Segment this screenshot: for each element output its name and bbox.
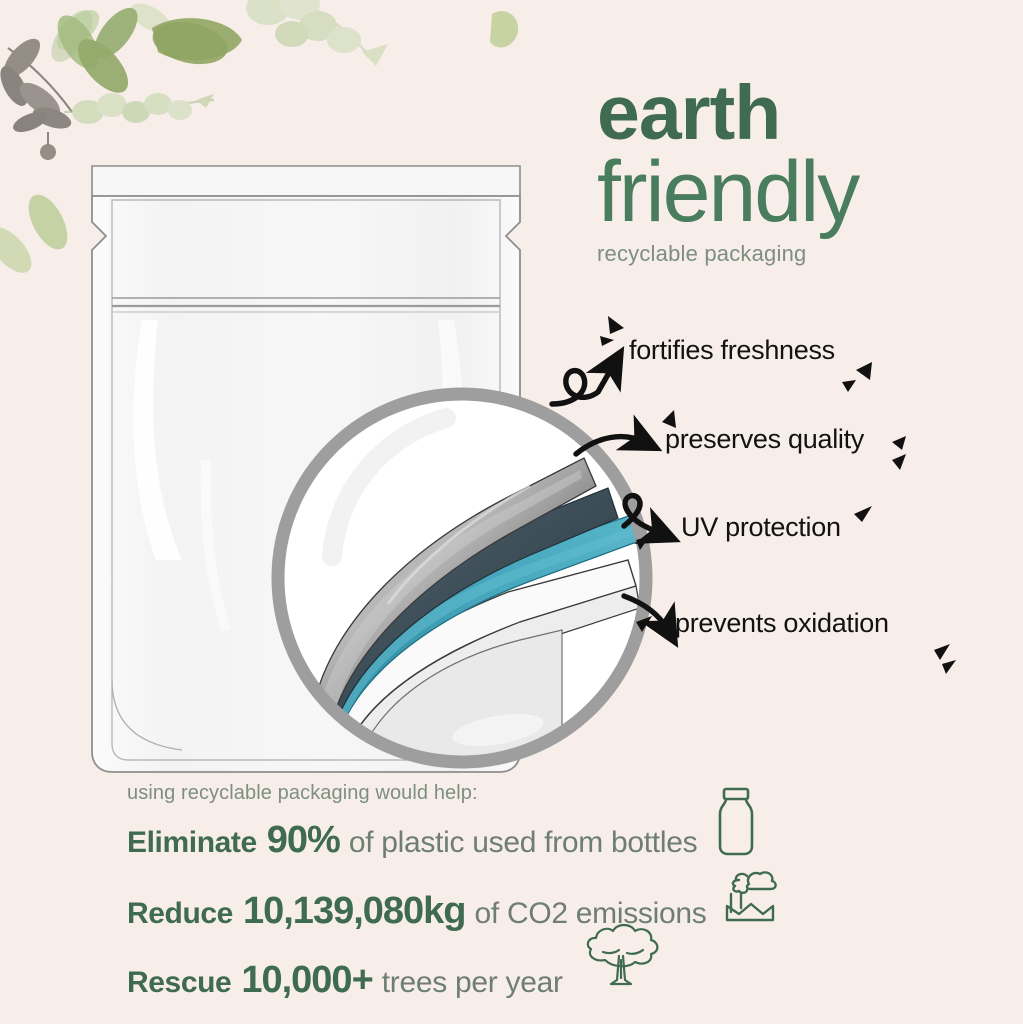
tree-icon [575, 920, 667, 988]
headline-block: earth friendly recyclable packaging [597, 78, 1017, 267]
callout-preserves-quality: preserves quality [665, 424, 864, 455]
stat-number: 10,000+ [241, 959, 372, 1002]
magnifier-film-layers [262, 378, 662, 778]
headline-line-1: earth [597, 78, 1017, 149]
bottle-icon [712, 786, 760, 858]
callout-fortifies-freshness: fortifies freshness [629, 335, 835, 366]
stat-tail: trees per year [382, 966, 563, 1000]
headline-line-2: friendly [597, 151, 1017, 234]
stat-number: 10,139,080kg [243, 890, 466, 933]
stat-number: 90% [267, 819, 340, 862]
stat-verb: Reduce [127, 897, 233, 931]
stat-verb: Eliminate [127, 826, 257, 860]
infographic-canvas: earth friendly recyclable packaging fort… [0, 0, 1023, 1024]
headline-subtitle: recyclable packaging [597, 241, 1017, 267]
callout-prevents-oxidation: prevents oxidation [675, 608, 889, 639]
stat-verb: Rescue [127, 966, 231, 1000]
callout-uv-protection: UV protection [681, 512, 841, 543]
stat-tail: of plastic used from bottles [349, 826, 697, 860]
factory-icon [719, 862, 781, 924]
stat-row: Rescue 10,000+ trees per year [127, 959, 827, 1002]
